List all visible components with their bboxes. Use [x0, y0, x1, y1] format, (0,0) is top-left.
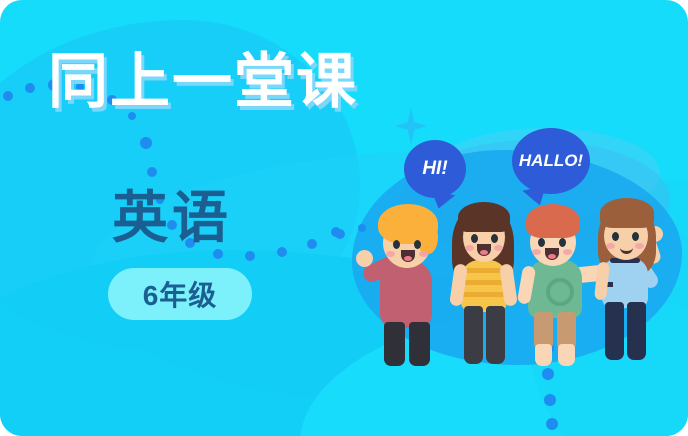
eye-left — [393, 240, 400, 249]
path-dot — [3, 91, 13, 101]
hair-side — [419, 220, 438, 254]
path-dot — [245, 251, 255, 261]
eye-left — [538, 238, 545, 247]
eye-left — [471, 234, 478, 243]
cheek-left — [386, 251, 395, 257]
eye-left — [612, 232, 619, 241]
leg-left — [534, 312, 553, 348]
page-title: 同上一堂课 — [48, 52, 358, 112]
hair-top — [600, 198, 654, 228]
cheek-right — [494, 245, 503, 251]
child-brown-hair-striped — [442, 192, 520, 370]
child-blonde-waving — [364, 198, 442, 368]
grade-badge-label: 6年级 — [143, 274, 218, 314]
hair-bangs — [458, 202, 510, 232]
path-dot — [546, 418, 558, 430]
course-cover-card: 同上一堂课 英语 6年级 HI! HALLO! — [0, 0, 688, 436]
cheek-left — [532, 249, 541, 255]
path-dot — [544, 394, 556, 406]
child-brown-hair-blue-shirt — [588, 194, 668, 366]
children-illustration — [360, 188, 660, 368]
eye-right — [559, 238, 566, 247]
eye-right — [414, 240, 421, 249]
grade-badge: 6年级 — [108, 268, 252, 320]
tongue — [480, 250, 488, 255]
tongue — [404, 256, 412, 261]
leg-left — [384, 322, 405, 366]
path-dot — [213, 249, 223, 259]
leg-left — [464, 306, 483, 364]
subject-title: 英语 — [112, 190, 232, 246]
leg-right — [557, 312, 576, 348]
child-ginger-green-shirt — [516, 200, 598, 368]
cheek-left — [606, 243, 615, 249]
speech-bubble-hallo: HALLO! — [512, 128, 590, 194]
shin-right — [558, 344, 575, 366]
shirt-logo — [546, 278, 574, 306]
tongue — [548, 254, 556, 259]
leg-left — [605, 302, 624, 360]
cheek-right — [563, 249, 572, 255]
shirt-stripe-2 — [461, 280, 507, 285]
path-dot — [542, 368, 554, 380]
shirt-stripe-3 — [461, 292, 507, 297]
leg-right — [409, 322, 430, 366]
shin-left — [535, 344, 552, 366]
cheek-left — [465, 245, 474, 251]
torso — [380, 260, 432, 328]
path-dot — [307, 239, 317, 249]
eye-right — [632, 232, 639, 241]
sparkle-icon — [395, 107, 427, 145]
cheek-right — [635, 243, 644, 249]
path-dot — [331, 227, 341, 237]
waving-hand — [356, 250, 373, 267]
path-dot — [277, 247, 287, 257]
leg-right — [486, 306, 505, 364]
leg-right — [627, 302, 646, 360]
path-dot — [140, 137, 152, 149]
cheek-right — [419, 251, 428, 257]
eye-right — [491, 234, 498, 243]
path-dot — [147, 167, 157, 177]
hair — [526, 204, 580, 238]
path-dot — [25, 83, 35, 93]
